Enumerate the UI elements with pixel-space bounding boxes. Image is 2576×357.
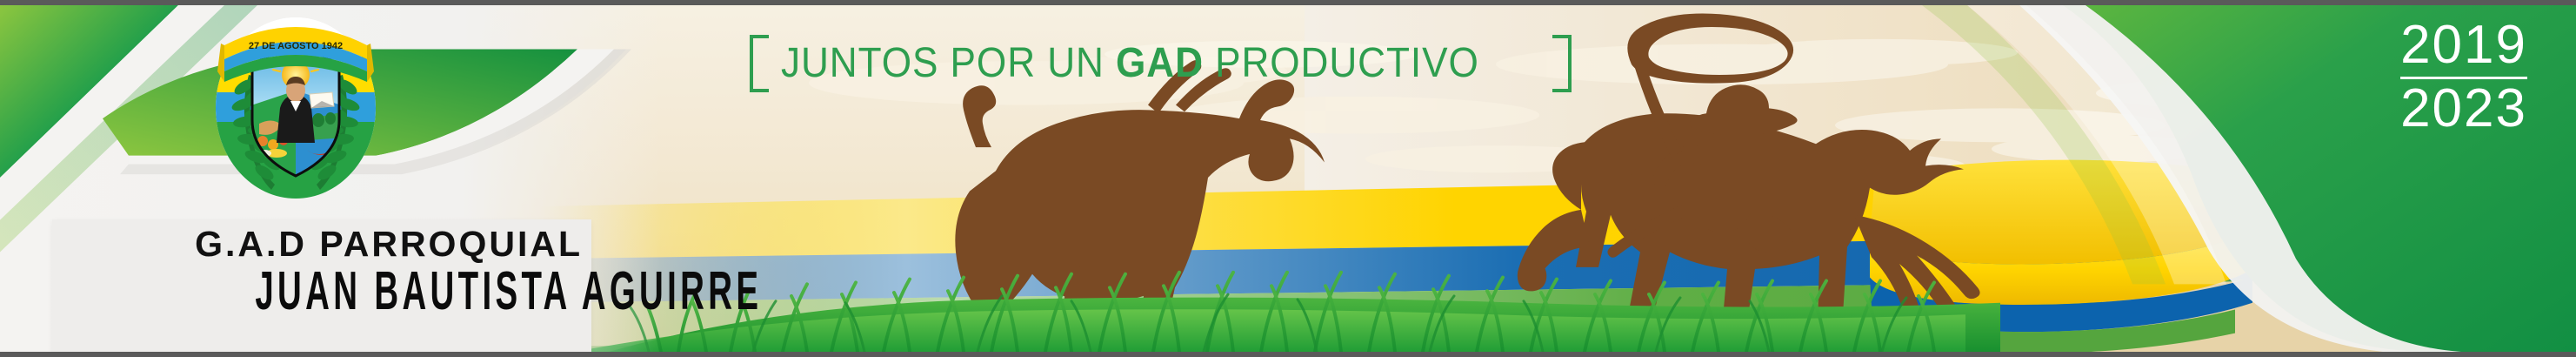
org-name-line2: JUAN BAUTISTA AGUIRRE	[255, 265, 586, 319]
coat-of-arms: 27 DE AGOSTO 1942	[209, 10, 383, 202]
slogan-emphasis: GAD	[1116, 40, 1204, 86]
period-end-year: 2023	[2400, 81, 2527, 137]
slogan-suffix: PRODUCTIVO	[1204, 40, 1479, 86]
organization-name-band: G.A.D PARROQUIAL JUAN BAUTISTA AGUIRRE	[52, 219, 591, 357]
org-name-line1: G.A.D PARROQUIAL	[52, 226, 583, 262]
institutional-banner: 27 DE AGOSTO 1942 G.A.D PARROQUIAL JUAN …	[0, 0, 2576, 357]
slogan-prefix: JUNTOS POR UN	[781, 40, 1116, 86]
slogan-text: JUNTOS POR UN GAD PRODUCTIVO	[781, 35, 1479, 92]
slogan: JUNTOS POR UN GAD PRODUCTIVO	[750, 35, 1572, 92]
period-years: 2019 2023	[2400, 17, 2527, 137]
crest-ribbon-text: 27 DE AGOSTO 1942	[249, 41, 343, 51]
period-start-year: 2019	[2400, 17, 2527, 73]
bracket-right-icon	[1552, 35, 1572, 92]
bracket-left-icon	[750, 35, 769, 92]
